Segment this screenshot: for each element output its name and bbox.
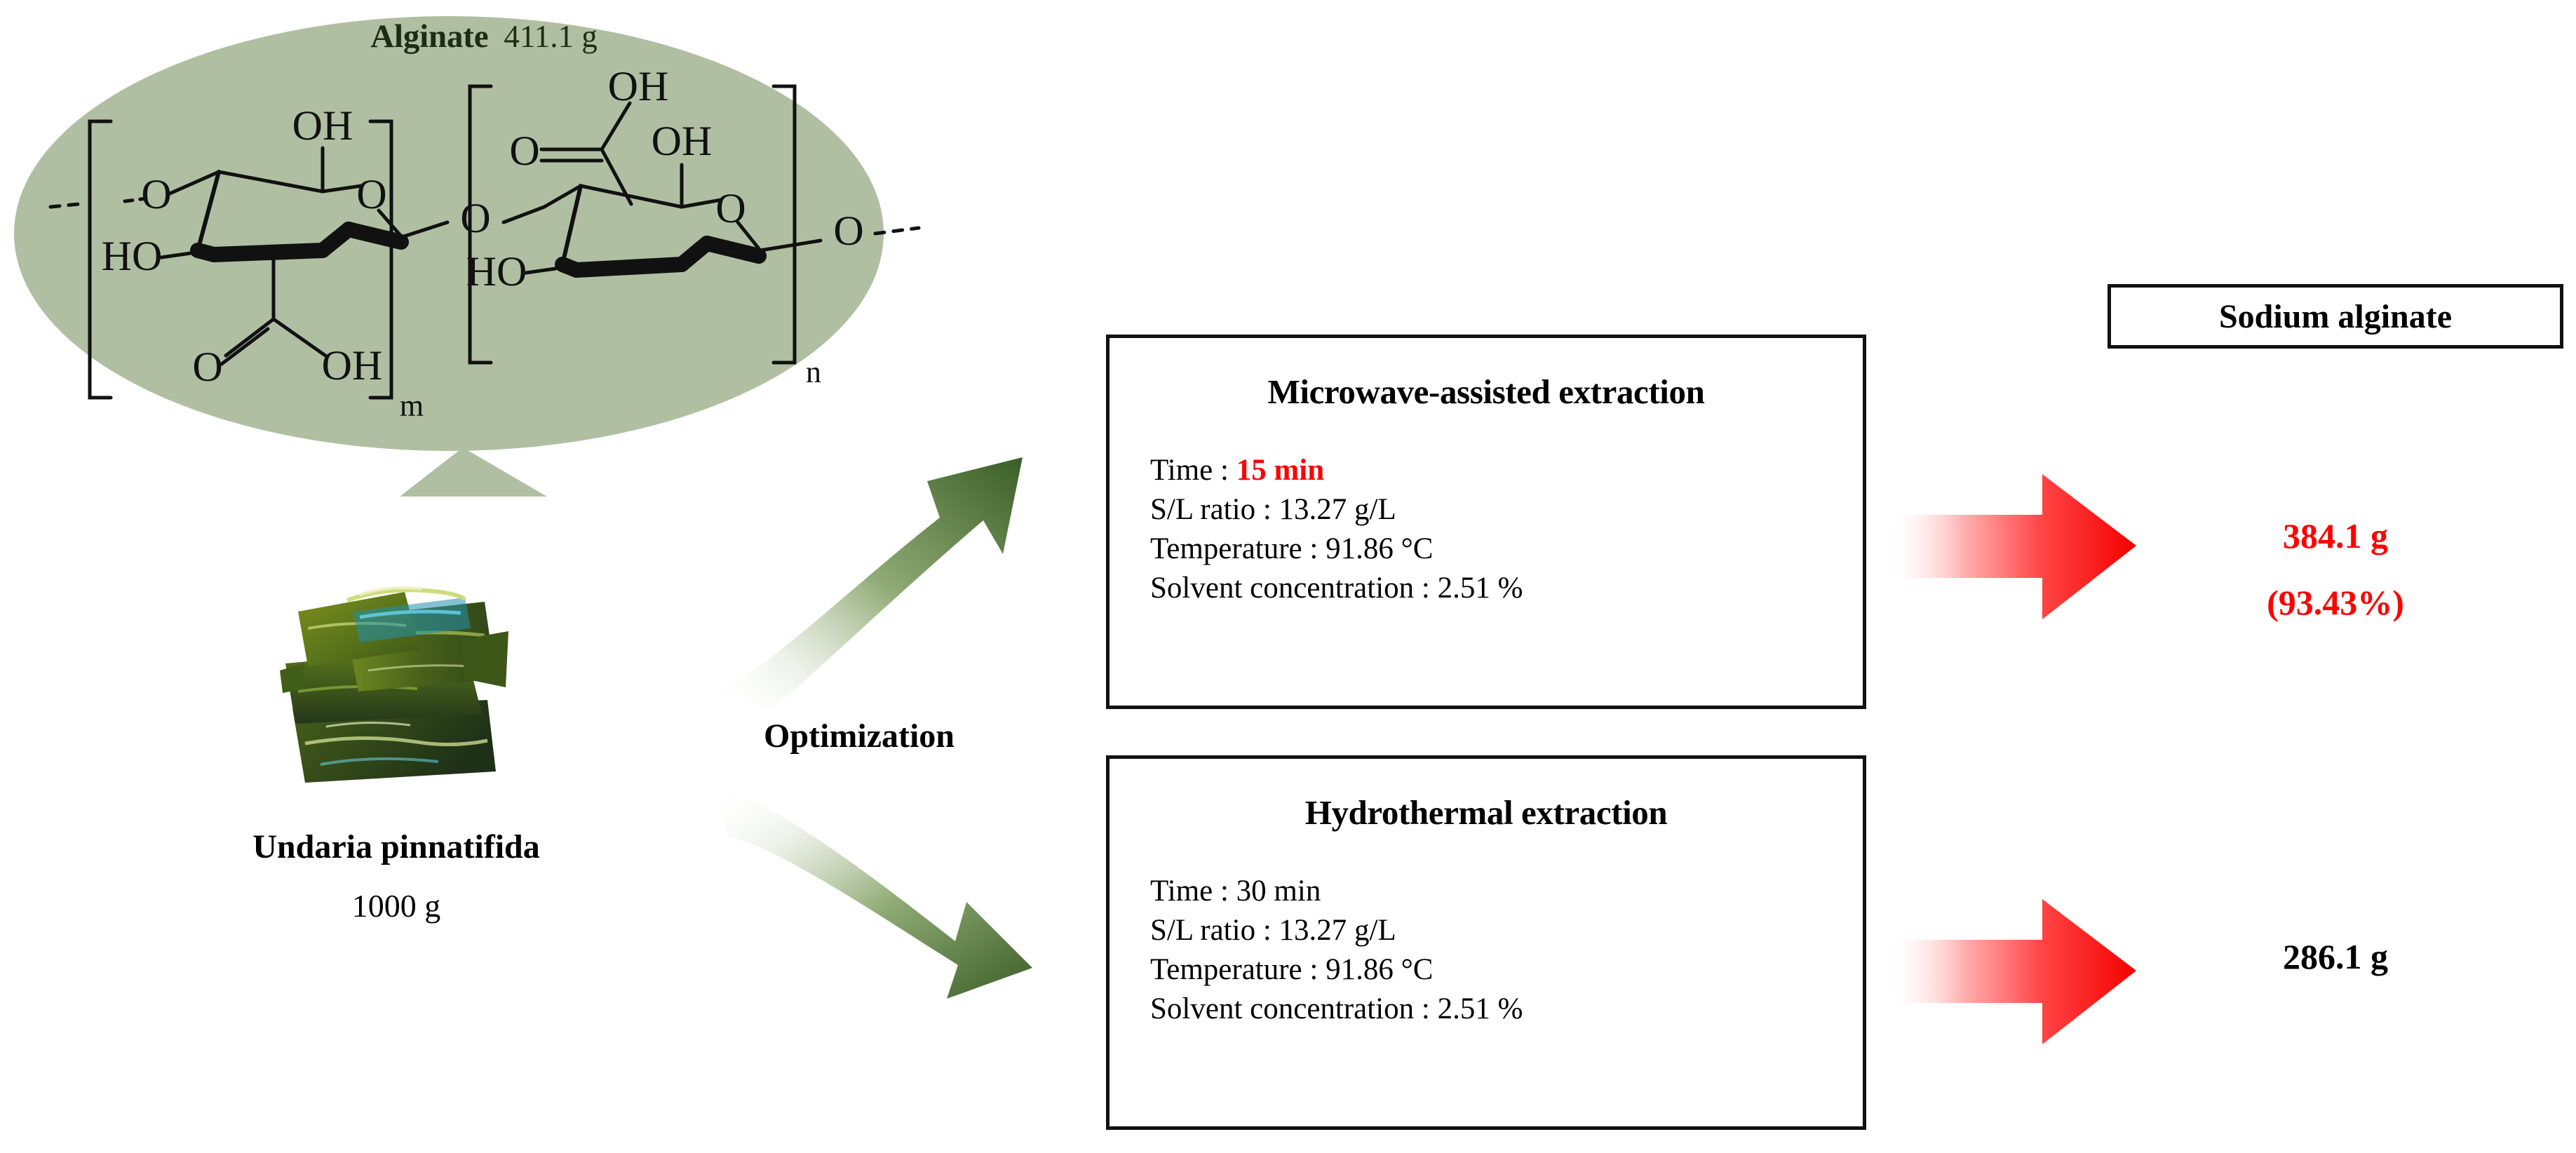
hydrothermal-result-mass: 286.1 g <box>2108 936 2563 977</box>
sodium-alginate-label: Sodium alginate <box>2219 297 2452 336</box>
microwave-result-yield: (93.43%) <box>2108 582 2563 623</box>
chem-atom-oh-right-mid: OH <box>652 118 713 164</box>
chem-subscript-m: m <box>400 389 424 423</box>
param-time-label: Time : <box>1150 454 1236 487</box>
species-name-label: Undaria pinnatifida <box>123 828 670 866</box>
microwave-extraction-title: Microwave-assisted extraction <box>1110 372 1863 412</box>
param-sl-ratio: S/L ratio : 13.27 g/L <box>1150 490 1863 530</box>
chem-atom-ho-right: HO <box>466 248 527 295</box>
microwave-result-mass: 384.1 g <box>2108 515 2563 556</box>
chem-atom-o-carboxyl-left: O <box>192 344 222 390</box>
chem-atom-o-terminal: O <box>833 208 863 254</box>
sodium-alginate-product-box: Sodium alginate <box>2108 284 2563 349</box>
chem-atom-o-carboxyl-right: O <box>509 128 539 174</box>
microwave-extraction-box: Microwave-assisted extraction Time : 15 … <box>1106 335 1866 709</box>
param-solvent-concentration: Solvent concentration : 2.51 % <box>1150 569 1863 608</box>
param-sl-ratio: S/L ratio : 13.27 g/L <box>1150 911 1863 950</box>
param-solvent-concentration: Solvent concentration : 2.51 % <box>1150 990 1863 1029</box>
alginate-callout-title: Alginate 411.1 g <box>302 15 666 58</box>
chem-atom-o-left-glycosidic: O <box>141 171 171 217</box>
alginate-chemical-structure: O OH O HO O OH O OH O OH O HO O m n <box>42 67 947 445</box>
param-temperature: Temperature : 91.86 °C <box>1150 530 1863 569</box>
chem-atom-oh-left-top: OH <box>292 102 353 149</box>
chem-atom-o-glycosidic-mid: O <box>460 195 490 241</box>
hydrothermal-extraction-params: Time : 30 min S/L ratio : 13.27 g/L Temp… <box>1110 872 1863 1029</box>
optimization-label: Optimization <box>712 717 1006 755</box>
optimization-arrow-down <box>708 757 1157 1066</box>
chem-subscript-n: n <box>806 355 821 389</box>
param-time: Time : 15 min <box>1150 451 1863 490</box>
optimization-arrow-up <box>708 414 1157 708</box>
result-arrow-microwave <box>1887 471 2139 622</box>
undaria-pinnatifida-photo <box>277 533 508 814</box>
chem-atom-oh-carboxyl-left: OH <box>322 342 383 389</box>
alginate-mass: 411.1 g <box>504 18 597 55</box>
alginate-label: Alginate <box>370 18 488 55</box>
hydrothermal-extraction-box: Hydrothermal extraction Time : 30 min S/… <box>1106 755 1866 1130</box>
chem-atom-oh-right-top: OH <box>608 67 669 109</box>
microwave-extraction-params: Time : 15 min S/L ratio : 13.27 g/L Temp… <box>1110 451 1863 608</box>
hydrothermal-extraction-title: Hydrothermal extraction <box>1110 793 1863 832</box>
chem-atom-ho-left: HO <box>102 233 163 279</box>
param-time: Time : 30 min <box>1150 872 1863 911</box>
param-time-value: 15 min <box>1236 454 1324 487</box>
param-temperature: Temperature : 91.86 °C <box>1150 950 1863 990</box>
chem-atom-o-ring-right: O <box>715 185 746 231</box>
result-arrow-hydrothermal <box>1887 896 2139 1047</box>
species-mass-label: 1000 g <box>123 887 670 924</box>
chem-atom-o-ring-left: O <box>356 171 386 217</box>
